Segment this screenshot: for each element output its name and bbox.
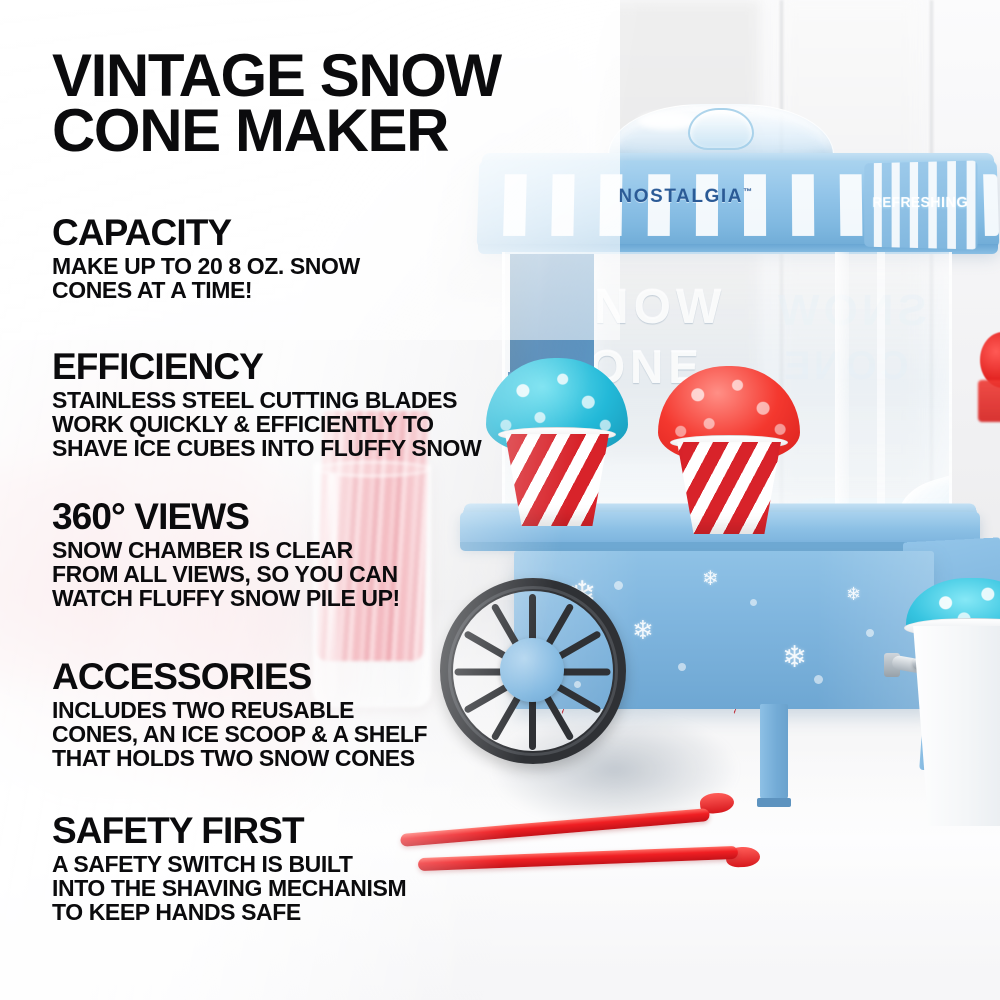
feature-body-line: MAKE UP TO 20 8 OZ. SNOW: [52, 255, 360, 279]
feature-body-line: SNOW CHAMBER IS CLEAR: [52, 539, 400, 563]
feature-body-line: SHAVE ICE CUBES INTO FLUFFY SNOW: [52, 437, 481, 461]
feature-heading: CAPACITY: [52, 214, 360, 252]
feature-accessories: ACCESSORIES INCLUDES TWO REUSABLE CONES,…: [52, 658, 427, 770]
feature-body-line: A SAFETY SWITCH IS BUILT: [52, 853, 406, 877]
feature-body-line: WORK QUICKLY & EFFICIENTLY TO: [52, 413, 481, 437]
title-line-2: CONE MAKER: [52, 103, 522, 158]
feature-heading: ACCESSORIES: [52, 658, 427, 696]
feature-body: A SAFETY SWITCH IS BUILT INTO THE SHAVIN…: [52, 853, 406, 925]
feature-heading: EFFICIENCY: [52, 348, 481, 386]
feature-capacity: CAPACITY MAKE UP TO 20 8 OZ. SNOW CONES …: [52, 214, 360, 303]
feature-360-views: 360° VIEWS SNOW CHAMBER IS CLEAR FROM AL…: [52, 498, 400, 610]
feature-safety-first: SAFETY FIRST A SAFETY SWITCH IS BUILT IN…: [52, 812, 406, 924]
feature-body-line: CONES, AN ICE SCOOP & A SHELF: [52, 723, 427, 747]
feature-heading: 360° VIEWS: [52, 498, 400, 536]
feature-body: SNOW CHAMBER IS CLEAR FROM ALL VIEWS, SO…: [52, 539, 400, 611]
copy-column: VINTAGE SNOW CONE MAKER CAPACITY MAKE UP…: [52, 0, 522, 158]
feature-body: INCLUDES TWO REUSABLE CONES, AN ICE SCOO…: [52, 699, 427, 771]
infographic-stage: NOSTALGIA™ REFRESHING SNOW CONE SNOW CON…: [0, 0, 1000, 1000]
feature-efficiency: EFFICIENCY STAINLESS STEEL CUTTING BLADE…: [52, 348, 481, 460]
feature-body-line: FROM ALL VIEWS, SO YOU CAN: [52, 563, 400, 587]
feature-body: STAINLESS STEEL CUTTING BLADES WORK QUIC…: [52, 389, 481, 461]
feature-body-line: INTO THE SHAVING MECHANISM: [52, 877, 406, 901]
feature-body: MAKE UP TO 20 8 OZ. SNOW CONES AT A TIME…: [52, 255, 360, 303]
feature-body-line: INCLUDES TWO REUSABLE: [52, 699, 427, 723]
feature-body-line: STAINLESS STEEL CUTTING BLADES: [52, 389, 481, 413]
feature-body-line: TO KEEP HANDS SAFE: [52, 901, 406, 925]
feature-body-line: CONES AT A TIME!: [52, 279, 360, 303]
page-title: VINTAGE SNOW CONE MAKER: [52, 48, 522, 158]
feature-heading: SAFETY FIRST: [52, 812, 406, 850]
feature-body-line: THAT HOLDS TWO SNOW CONES: [52, 747, 427, 771]
feature-body-line: WATCH FLUFFY SNOW PILE UP!: [52, 587, 400, 611]
